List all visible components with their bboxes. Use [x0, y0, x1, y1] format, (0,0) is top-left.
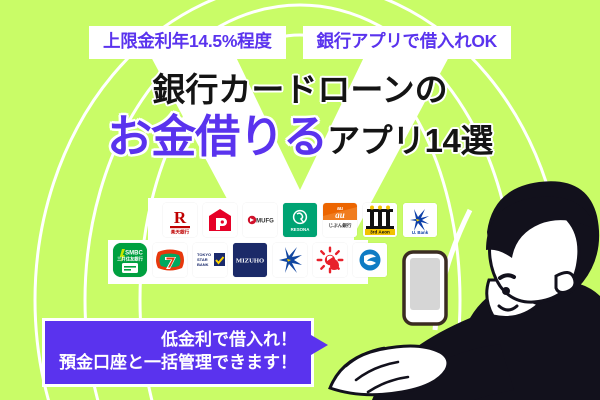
ribbon-line-2: 預金口座と一括管理できます！ [59, 352, 297, 375]
headline-line-2: お金借りるアプリ14選 [0, 113, 600, 162]
ribbon-line-1: 低金利で借入れ！ [59, 329, 297, 352]
headline-block: 銀行カードローンの お金借りるアプリ14選 [0, 72, 600, 162]
loan-app-banner: 上限金利年14.5%程度 銀行アプリで借入れOK 銀行カードローンの お金借りる… [0, 0, 600, 400]
badge-interest-rate: 上限金利年14.5%程度 [89, 26, 286, 59]
headline-line-1: 銀行カードローンの [0, 72, 600, 109]
ribbon-body: 低金利で借入れ！ 預金口座と一括管理できます！ [42, 318, 314, 387]
person-eye [502, 287, 510, 295]
bottom-ribbon: 低金利で借入れ！ 預金口座と一括管理できます！ [42, 318, 314, 387]
smartphone-screen [410, 258, 440, 310]
ribbon-tail-arrow [311, 335, 328, 355]
badge-row: 上限金利年14.5%程度 銀行アプリで借入れOK [0, 26, 600, 59]
person-ear [556, 272, 575, 292]
headline-suffix: アプリ14選 [327, 122, 493, 159]
headline-highlight: お金借りる [107, 111, 327, 162]
badge-bank-app: 銀行アプリで借入れOK [303, 26, 511, 59]
